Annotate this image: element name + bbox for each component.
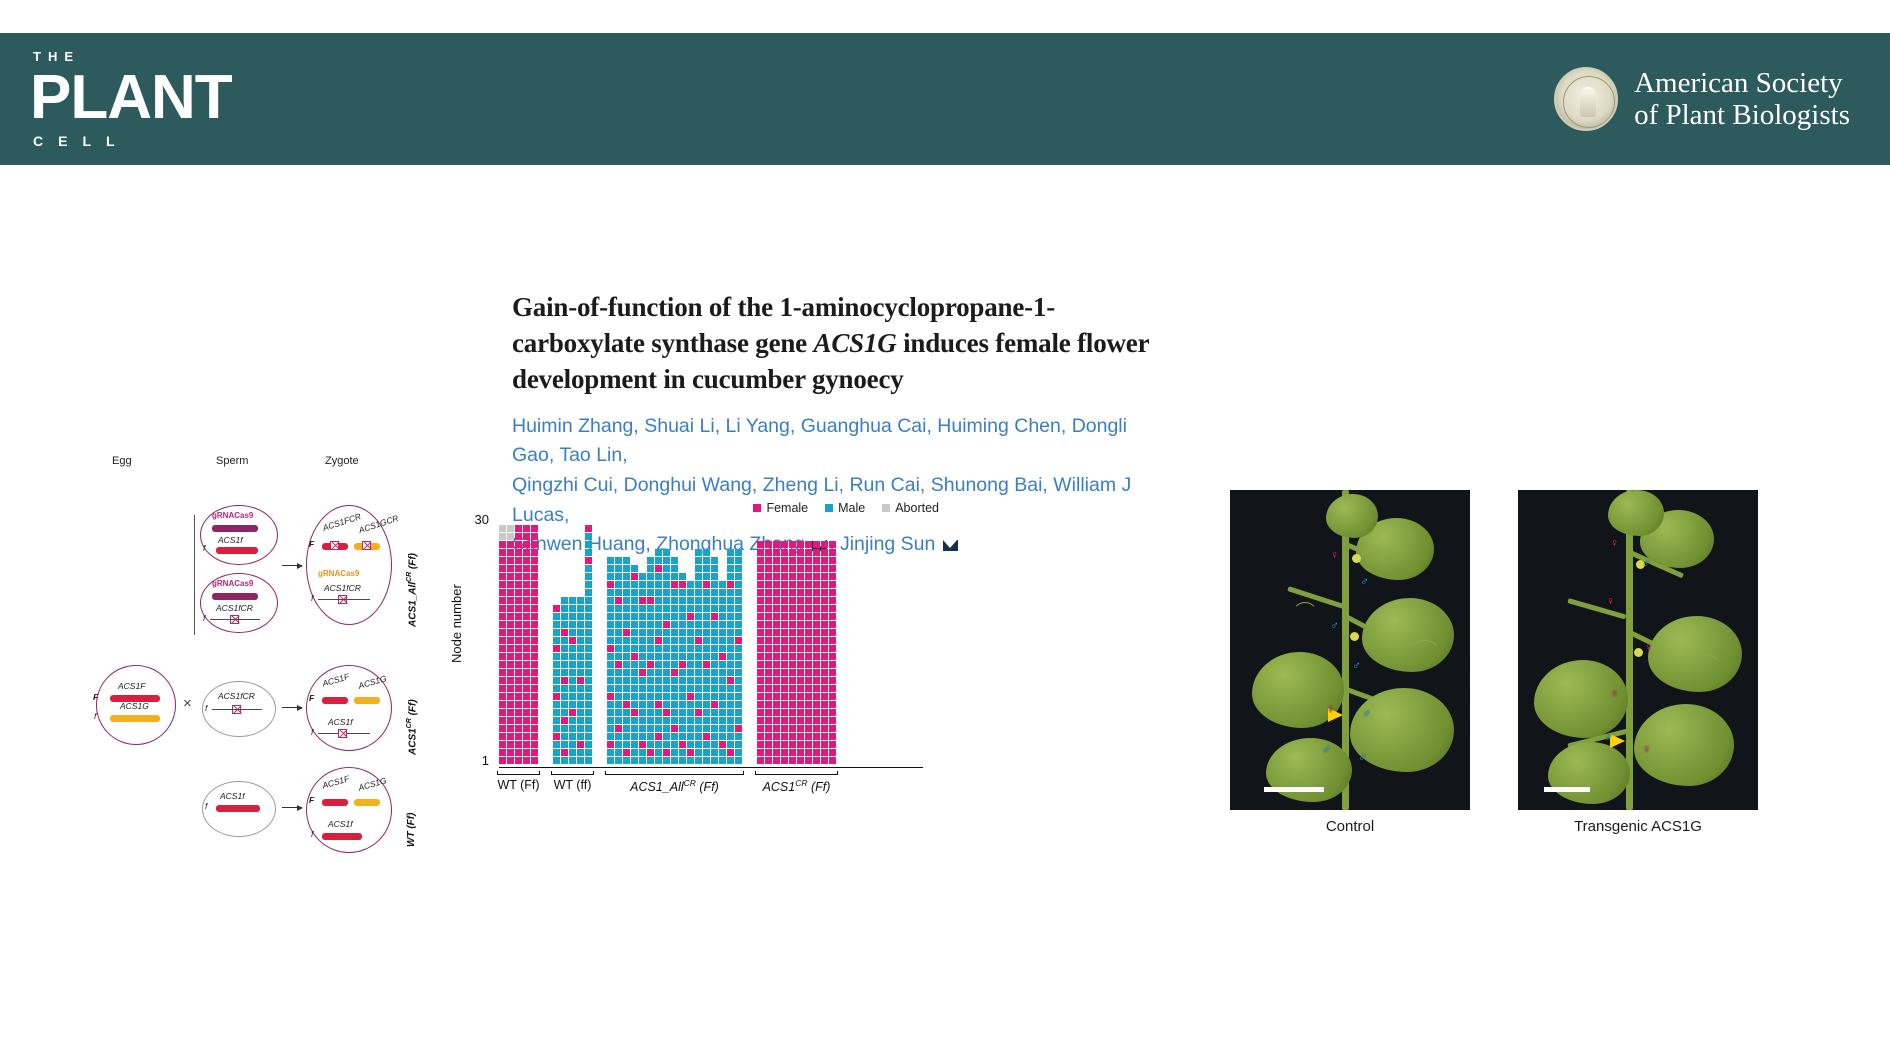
matrix-cell <box>499 669 506 676</box>
matrix-cell <box>773 685 780 692</box>
matrix-cell <box>655 709 662 716</box>
legend-label: Male <box>838 501 865 515</box>
matrix-cell <box>711 629 718 636</box>
matrix-cell <box>523 653 530 660</box>
matrix-cell <box>569 621 576 628</box>
matrix-column <box>515 525 522 764</box>
matrix-cell <box>703 733 710 740</box>
article-title: Gain-of-function of the 1-aminocycloprop… <box>512 290 1172 398</box>
matrix-cell <box>663 669 670 676</box>
matrix-cell <box>507 741 514 748</box>
matrix-cell <box>703 597 710 604</box>
matrix-cell <box>639 717 646 724</box>
female-symbol-icon: ♀ <box>1610 536 1619 550</box>
matrix-cell <box>631 637 638 644</box>
matrix-cell <box>615 717 622 724</box>
matrix-cell <box>499 645 506 652</box>
matrix-cell <box>553 645 560 652</box>
matrix-cell <box>687 757 694 764</box>
matrix-cell <box>805 725 812 732</box>
matrix-cell <box>569 733 576 740</box>
matrix-cell <box>757 653 764 660</box>
matrix-cell <box>647 709 654 716</box>
matrix-cell <box>523 565 530 572</box>
matrix-cell <box>523 733 530 740</box>
matrix-cell <box>829 621 836 628</box>
matrix-cell <box>639 573 646 580</box>
matrix-cell <box>663 581 670 588</box>
matrix-column <box>813 541 820 764</box>
matrix-cell <box>789 741 796 748</box>
matrix-cell <box>765 629 772 636</box>
matrix-cell <box>531 717 538 724</box>
matrix-cell <box>523 533 530 540</box>
matrix-cell <box>679 725 686 732</box>
zygote-suffix-1: f <box>311 593 313 603</box>
matrix-cell <box>569 661 576 668</box>
matrix-cell <box>577 637 584 644</box>
matrix-cell <box>585 549 592 556</box>
matrix-cell <box>773 749 780 756</box>
matrix-cell <box>789 709 796 716</box>
matrix-cell <box>569 669 576 676</box>
matrix-cell <box>695 637 702 644</box>
matrix-cell <box>499 733 506 740</box>
arrow-to-zygote-2 <box>282 707 302 708</box>
matrix-cell <box>531 637 538 644</box>
matrix-cell <box>631 669 638 676</box>
matrix-cell <box>727 677 734 684</box>
matrix-cell <box>773 573 780 580</box>
matrix-column <box>765 541 772 764</box>
matrix-cell <box>569 749 576 756</box>
matrix-cell <box>711 581 718 588</box>
matrix-cell <box>765 589 772 596</box>
male-symbol-icon: ♂ <box>1322 742 1331 756</box>
matrix-cell <box>663 637 670 644</box>
matrix-cell <box>663 717 670 724</box>
matrix-cell <box>515 701 522 708</box>
matrix-cell <box>507 709 514 716</box>
matrix-cell <box>671 749 678 756</box>
matrix-cell <box>773 549 780 556</box>
matrix-cell <box>789 725 796 732</box>
matrix-cell <box>695 629 702 636</box>
matrix-cell <box>805 749 812 756</box>
matrix-cell <box>703 653 710 660</box>
matrix-cell <box>585 589 592 596</box>
matrix-cell <box>679 733 686 740</box>
x-axis-group-rule <box>551 771 594 775</box>
matrix-cell <box>531 597 538 604</box>
matrix-cell <box>805 709 812 716</box>
matrix-cell <box>515 717 522 724</box>
matrix-cell <box>829 757 836 764</box>
matrix-cell <box>663 677 670 684</box>
sperm-chromline-2 <box>210 619 260 620</box>
matrix-cell <box>821 669 828 676</box>
matrix-cell <box>797 557 804 564</box>
matrix-column <box>735 549 742 764</box>
matrix-cell <box>607 757 614 764</box>
matrix-cell <box>727 749 734 756</box>
matrix-cell <box>577 685 584 692</box>
matrix-cell <box>765 581 772 588</box>
matrix-cell <box>711 637 718 644</box>
matrix-cell <box>789 693 796 700</box>
matrix-cell <box>499 565 506 572</box>
society-branding[interactable]: American Society of Plant Biologists <box>1554 67 1850 132</box>
matrix-cell <box>561 749 568 756</box>
matrix-cell <box>507 677 514 684</box>
matrix-cell <box>607 653 614 660</box>
matrix-cell <box>735 709 742 716</box>
matrix-cell <box>553 701 560 708</box>
matrix-cell <box>515 621 522 628</box>
matrix-cell <box>553 661 560 668</box>
matrix-cell <box>821 749 828 756</box>
matrix-cell <box>615 709 622 716</box>
matrix-cell <box>553 757 560 764</box>
matrix-cell <box>805 717 812 724</box>
matrix-cell <box>703 581 710 588</box>
matrix-cell <box>813 669 820 676</box>
matrix-cell <box>615 677 622 684</box>
matrix-cell <box>727 645 734 652</box>
matrix-cell <box>585 533 592 540</box>
genetics-column-egg: Egg <box>112 455 132 467</box>
matrix-cell <box>585 565 592 572</box>
matrix-cell <box>531 589 538 596</box>
matrix-cell <box>719 741 726 748</box>
matrix-cell <box>703 685 710 692</box>
matrix-cell <box>805 541 812 548</box>
matrix-cell <box>711 565 718 572</box>
matrix-cell <box>695 581 702 588</box>
matrix-cell <box>757 685 764 692</box>
matrix-cell <box>585 685 592 692</box>
scale-bar <box>1544 787 1590 792</box>
matrix-cell <box>735 693 742 700</box>
photo-transgenic[interactable]: ♀ ♂ ♀ ♀ ♀ ♂ ♀ <box>1518 490 1758 810</box>
matrix-cell <box>805 565 812 572</box>
matrix-cell <box>615 741 622 748</box>
society-name-line2: of Plant Biologists <box>1634 99 1850 131</box>
matrix-cell <box>821 661 828 668</box>
matrix-column <box>789 541 796 764</box>
matrix-cell <box>765 557 772 564</box>
cross-symbol: × <box>183 695 192 712</box>
matrix-cell <box>679 581 686 588</box>
matrix-cell <box>623 733 630 740</box>
matrix-cell <box>671 581 678 588</box>
matrix-cell <box>553 653 560 660</box>
matrix-cell <box>821 549 828 556</box>
matrix-column <box>663 549 670 764</box>
matrix-cell <box>655 693 662 700</box>
matrix-cell <box>703 565 710 572</box>
matrix-cell <box>647 589 654 596</box>
matrix-cell <box>829 725 836 732</box>
matrix-cell <box>765 725 772 732</box>
zygote-suffix-2: f <box>311 727 313 737</box>
matrix-cell <box>615 637 622 644</box>
matrix-cell <box>813 613 820 620</box>
matrix-cell <box>735 573 742 580</box>
matrix-cell <box>789 581 796 588</box>
matrix-cell <box>639 733 646 740</box>
matrix-cell <box>507 749 514 756</box>
matrix-column <box>805 541 812 764</box>
matrix-cell <box>781 581 788 588</box>
matrix-cell <box>765 637 772 644</box>
matrix-column <box>655 549 662 764</box>
matrix-cell <box>615 589 622 596</box>
genetics-cross-diagram: Egg Sperm Zygote ACS1F ACS1G F f × gRNAC… <box>90 495 420 885</box>
journal-logo-plant: PLANT <box>30 67 232 129</box>
matrix-cell <box>789 717 796 724</box>
matrix-cell <box>607 685 614 692</box>
matrix-cell <box>719 653 726 660</box>
matrix-cell <box>757 605 764 612</box>
sperm-allele-1: ACS1f <box>218 535 243 545</box>
matrix-cell <box>499 581 506 588</box>
matrix-cell <box>757 669 764 676</box>
matrix-cell <box>757 709 764 716</box>
matrix-cell <box>647 693 654 700</box>
matrix-cell <box>561 669 568 676</box>
matrix-cell <box>821 629 828 636</box>
matrix-cell <box>561 645 568 652</box>
matrix-cell <box>663 693 670 700</box>
matrix-cell <box>711 749 718 756</box>
matrix-cell <box>531 613 538 620</box>
matrix-cell <box>813 685 820 692</box>
sperm-group-brace <box>194 515 195 635</box>
matrix-cell <box>561 701 568 708</box>
matrix-cell <box>631 733 638 740</box>
matrix-cell <box>821 725 828 732</box>
matrix-cell <box>615 573 622 580</box>
photo-control[interactable]: ♀ ♂ ♂ ♂ ♀ ♂ ♂ ♂ <box>1230 490 1470 810</box>
matrix-cell <box>531 533 538 540</box>
matrix-cell <box>679 693 686 700</box>
matrix-cell <box>647 653 654 660</box>
matrix-cell <box>647 749 654 756</box>
matrix-cell <box>735 733 742 740</box>
matrix-cell <box>695 749 702 756</box>
zygote-allele-3c: ACS1f <box>328 819 353 829</box>
matrix-cell <box>789 557 796 564</box>
matrix-cell <box>773 757 780 764</box>
matrix-cell <box>663 549 670 556</box>
sperm-grna-cas9-1: gRNACas9 <box>212 511 253 520</box>
matrix-cell <box>821 581 828 588</box>
matrix-cell <box>757 549 764 556</box>
matrix-cell <box>499 533 506 540</box>
matrix-cell <box>703 621 710 628</box>
matrix-column <box>569 597 576 764</box>
matrix-cell <box>531 709 538 716</box>
matrix-cell <box>727 669 734 676</box>
matrix-cell <box>821 541 828 548</box>
matrix-cell <box>623 613 630 620</box>
matrix-column <box>781 541 788 764</box>
matrix-cell <box>687 629 694 636</box>
matrix-cell <box>765 565 772 572</box>
matrix-cell <box>577 717 584 724</box>
matrix-cell <box>813 581 820 588</box>
matrix-cell <box>561 741 568 748</box>
zygote-chromosome-3a <box>322 799 348 806</box>
matrix-cell <box>647 613 654 620</box>
matrix-cell <box>805 645 812 652</box>
matrix-cell <box>647 565 654 572</box>
matrix-cell <box>813 557 820 564</box>
matrix-cell <box>553 693 560 700</box>
matrix-cell <box>687 589 694 596</box>
matrix-cell <box>687 693 694 700</box>
matrix-cell <box>773 557 780 564</box>
matrix-cell <box>719 749 726 756</box>
matrix-cell <box>663 645 670 652</box>
matrix-cell <box>797 629 804 636</box>
matrix-cell <box>553 605 560 612</box>
matrix-cell <box>515 565 522 572</box>
matrix-cell <box>523 661 530 668</box>
matrix-cell <box>515 573 522 580</box>
matrix-cell <box>647 581 654 588</box>
author-line-1[interactable]: Huimin Zhang, Shuai Li, Li Yang, Guanghu… <box>512 412 1172 471</box>
matrix-cell <box>531 629 538 636</box>
matrix-cell <box>757 581 764 588</box>
matrix-cell <box>781 549 788 556</box>
matrix-column <box>821 541 828 764</box>
matrix-cell <box>515 709 522 716</box>
matrix-cell <box>813 629 820 636</box>
matrix-cell <box>607 749 614 756</box>
matrix-cell <box>813 709 820 716</box>
matrix-cell <box>655 629 662 636</box>
matrix-cell <box>773 653 780 660</box>
matrix-cell <box>797 581 804 588</box>
matrix-cell <box>639 725 646 732</box>
egg-prefix-f: F <box>93 692 98 702</box>
matrix-cell <box>789 549 796 556</box>
matrix-cell <box>615 597 622 604</box>
matrix-cell <box>663 557 670 564</box>
node-sex-matrix-chart: FemaleMaleAborted Node number 30 1 WT (F… <box>455 495 945 895</box>
matrix-cell <box>789 621 796 628</box>
matrix-cell <box>757 645 764 652</box>
matrix-cell <box>631 605 638 612</box>
legend-entry-aborted: Aborted <box>882 501 939 515</box>
matrix-cell <box>805 629 812 636</box>
matrix-cell <box>757 741 764 748</box>
matrix-cell <box>757 557 764 564</box>
matrix-cell <box>561 605 568 612</box>
scale-bar <box>1264 787 1324 792</box>
matrix-cell <box>821 709 828 716</box>
zygote-chromline-1 <box>318 599 370 600</box>
matrix-cell <box>719 701 726 708</box>
matrix-cell <box>711 557 718 564</box>
matrix-cell <box>735 653 742 660</box>
matrix-cell <box>829 653 836 660</box>
matrix-cell <box>655 589 662 596</box>
matrix-cell <box>607 573 614 580</box>
matrix-cell <box>813 589 820 596</box>
matrix-cell <box>569 741 576 748</box>
matrix-cell <box>607 709 614 716</box>
matrix-cell <box>711 661 718 668</box>
matrix-cell <box>735 605 742 612</box>
matrix-cell <box>805 669 812 676</box>
matrix-cell <box>711 597 718 604</box>
matrix-cell <box>813 701 820 708</box>
matrix-cell <box>727 597 734 604</box>
matrix-cell <box>655 733 662 740</box>
matrix-cell <box>631 677 638 684</box>
matrix-cell <box>655 597 662 604</box>
matrix-cell <box>805 613 812 620</box>
matrix-cell <box>561 685 568 692</box>
matrix-cell <box>585 677 592 684</box>
matrix-cell <box>585 669 592 676</box>
matrix-cell <box>687 645 694 652</box>
society-seal-icon <box>1554 67 1618 131</box>
matrix-cell <box>569 629 576 636</box>
matrix-cell <box>695 621 702 628</box>
matrix-cell <box>585 645 592 652</box>
matrix-cell <box>711 709 718 716</box>
matrix-cell <box>607 613 614 620</box>
matrix-cell <box>499 573 506 580</box>
matrix-cell <box>679 589 686 596</box>
matrix-cell <box>577 605 584 612</box>
matrix-cell <box>813 677 820 684</box>
journal-logo[interactable]: THE PLANT CELL <box>30 50 232 148</box>
matrix-cell <box>655 565 662 572</box>
matrix-cell <box>569 685 576 692</box>
matrix-cell <box>703 717 710 724</box>
matrix-cell <box>687 597 694 604</box>
matrix-cell <box>813 725 820 732</box>
matrix-cell <box>631 685 638 692</box>
matrix-cell <box>679 637 686 644</box>
matrix-cell <box>719 613 726 620</box>
matrix-cell <box>813 693 820 700</box>
matrix-cell <box>499 717 506 724</box>
matrix-cell <box>757 717 764 724</box>
matrix-cell <box>607 645 614 652</box>
matrix-cell <box>765 653 772 660</box>
matrix-cell <box>805 757 812 764</box>
matrix-cell <box>561 613 568 620</box>
matrix-cell <box>829 549 836 556</box>
matrix-cell <box>569 693 576 700</box>
matrix-cell <box>805 589 812 596</box>
matrix-cell <box>773 629 780 636</box>
matrix-cell <box>813 621 820 628</box>
matrix-cell <box>615 693 622 700</box>
matrix-column <box>577 597 584 764</box>
matrix-cell <box>631 645 638 652</box>
matrix-cell <box>639 629 646 636</box>
matrix-cell <box>663 605 670 612</box>
matrix-cell <box>797 613 804 620</box>
matrix-cell <box>765 541 772 548</box>
